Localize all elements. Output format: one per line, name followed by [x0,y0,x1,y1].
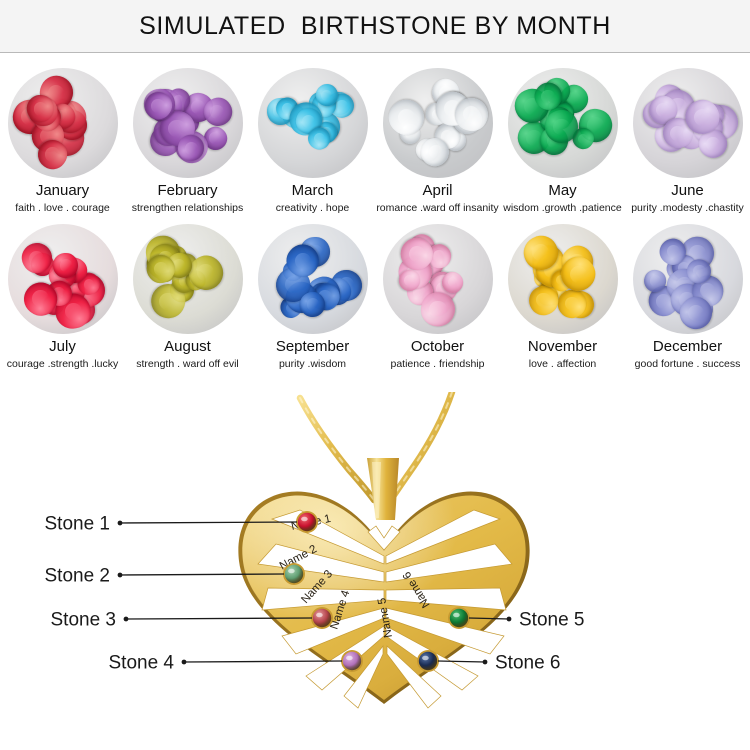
infographic-page: SIMULATED BIRTHSTONE BY MONTH Januaryfai… [0,0,750,750]
month-name: May [548,183,576,199]
necklace-diagram: Name 1 Name 2 Name 3 Name 4 Name 5 Name … [0,392,750,750]
month-cell-september: Septemberpurity .wisdom [250,214,375,370]
month-name: August [164,339,211,355]
month-cell-october: Octoberpatience . friendship [375,214,500,370]
page-title: SIMULATED BIRTHSTONE BY MONTH [139,12,611,41]
month-description: purity .modesty .chastity [626,202,750,214]
gem-photo-june [633,68,743,178]
month-description: purity .wisdom [251,358,375,370]
month-name: April [422,183,452,199]
gem-photo-december [633,224,743,334]
month-cell-february: Februarystrengthen relationships [125,58,250,214]
gem-photo-may [508,68,618,178]
month-description: strengthen relationships [126,202,250,214]
gem-photo-november [508,224,618,334]
stone-callouts: Stone 1Stone 2Stone 3Stone 4Stone 5Stone… [0,392,750,750]
month-name: July [49,339,76,355]
month-name: January [36,183,89,199]
callout-line-1 [120,522,297,523]
gem-photo-february [133,68,243,178]
gem-photo-october [383,224,493,334]
callout-line-4 [184,661,342,662]
month-description: love . affection [501,358,625,370]
month-cell-december: Decembergood fortune . success [625,214,750,370]
month-description: creativity . hope [251,202,375,214]
gem-photo-september [258,224,368,334]
month-cell-august: Auguststrength . ward off evil [125,214,250,370]
stone-callout-label-5: Stone 5 [519,610,585,631]
callout-line-3 [126,618,312,619]
month-description: good fortune . success [626,358,750,370]
month-name: September [276,339,349,355]
month-name: June [671,183,704,199]
month-cell-may: Maywisdom .growth .patience [500,58,625,214]
month-description: romance .ward off insanity [376,202,500,214]
callout-line-2 [120,574,284,575]
month-description: faith . love . courage [1,202,125,214]
birthstone-month-grid: Januaryfaith . love . courageFebruarystr… [0,58,750,370]
month-name: December [653,339,722,355]
stone-callout-label-2: Stone 2 [45,566,111,587]
stone-callout-label-3: Stone 3 [51,610,117,631]
page-header: SIMULATED BIRTHSTONE BY MONTH [0,0,750,53]
month-description: strength . ward off evil [126,358,250,370]
callout-line-5 [469,618,509,619]
callout-texts: Stone 1Stone 2Stone 3Stone 4Stone 5Stone… [45,514,585,674]
month-description: patience . friendship [376,358,500,370]
month-cell-march: Marchcreativity . hope [250,58,375,214]
month-cell-january: Januaryfaith . love . courage [0,58,125,214]
month-cell-july: Julycourage .strength .lucky [0,214,125,370]
month-cell-june: Junepurity .modesty .chastity [625,58,750,214]
gem-photo-july [8,224,118,334]
gem-photo-march [258,68,368,178]
month-cell-april: Aprilromance .ward off insanity [375,58,500,214]
callout-lines [118,521,512,665]
stone-callout-label-1: Stone 1 [45,514,111,535]
month-name: October [411,339,464,355]
gem-photo-august [133,224,243,334]
callout-line-6 [438,661,485,662]
month-name: March [292,183,334,199]
month-name: November [528,339,597,355]
gem-photo-april [383,68,493,178]
stone-callout-label-6: Stone 6 [495,653,561,674]
month-name: February [157,183,217,199]
month-description: courage .strength .lucky [1,358,125,370]
stone-callout-label-4: Stone 4 [109,653,175,674]
month-cell-november: Novemberlove . affection [500,214,625,370]
gem-photo-january [8,68,118,178]
month-description: wisdom .growth .patience [501,202,625,214]
